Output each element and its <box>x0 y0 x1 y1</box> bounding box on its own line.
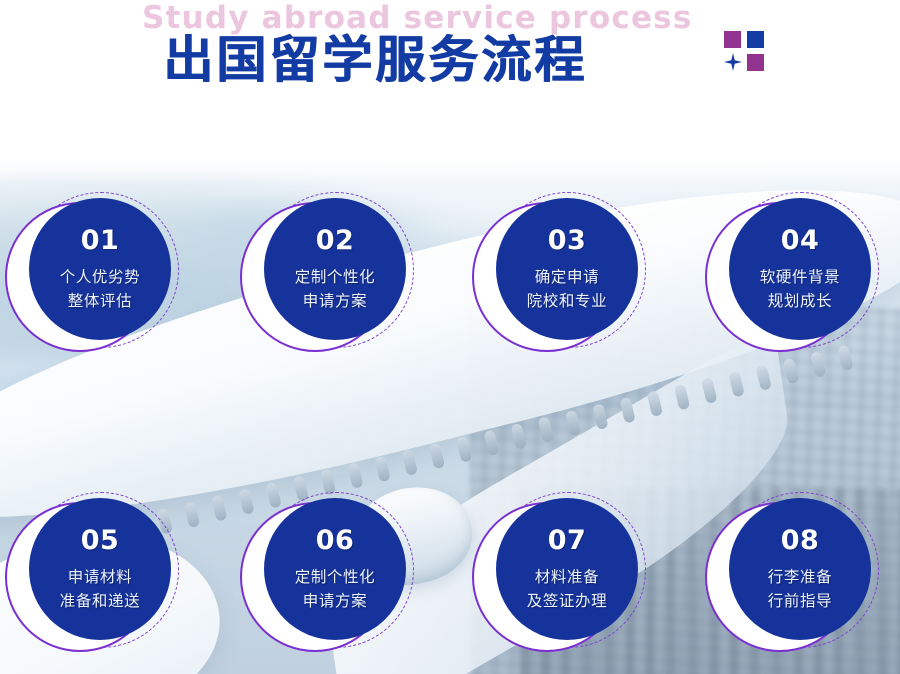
step-node-8[interactable]: 08 行李准备 行前指导 <box>705 490 885 670</box>
blue-square-icon <box>747 31 764 48</box>
study-abroad-process-poster: Study abroad service process 出国留学服务流程 <box>0 0 900 674</box>
page-title: 出国留学服务流程 <box>163 20 587 92</box>
step-number: 06 <box>316 527 355 554</box>
step-text-line2: 及签证办理 <box>527 590 608 614</box>
step-node-5[interactable]: 05 申请材料 准备和递送 <box>5 490 185 670</box>
step-disc: 07 材料准备 及签证办理 <box>496 498 638 640</box>
step-number: 03 <box>548 227 587 254</box>
step-node-2[interactable]: 02 定制个性化 申请方案 <box>240 190 420 370</box>
step-disc: 01 个人优劣势 整体评估 <box>29 198 171 340</box>
step-text-line1: 定制个性化 <box>295 266 376 290</box>
step-number: 04 <box>781 227 820 254</box>
step-text-line1: 定制个性化 <box>295 566 376 590</box>
step-text-line1: 行李准备 <box>768 566 832 590</box>
step-text-line2: 申请方案 <box>303 590 367 614</box>
step-text-line2: 院校和专业 <box>527 290 608 314</box>
poster-header: Study abroad service process 出国留学服务流程 <box>0 0 900 160</box>
step-text-line1: 申请材料 <box>68 566 132 590</box>
step-node-3[interactable]: 03 确定申请 院校和专业 <box>472 190 652 370</box>
step-number: 07 <box>548 527 587 554</box>
four-point-star-icon <box>724 53 742 71</box>
step-text-line1: 软硬件背景 <box>760 266 841 290</box>
step-text-line2: 行前指导 <box>768 590 832 614</box>
step-disc: 03 确定申请 院校和专业 <box>496 198 638 340</box>
step-text-line2: 整体评估 <box>68 290 132 314</box>
step-node-6[interactable]: 06 定制个性化 申请方案 <box>240 490 420 670</box>
step-text-line2: 申请方案 <box>303 290 367 314</box>
step-number: 05 <box>81 527 120 554</box>
step-text-line2: 准备和递送 <box>60 590 141 614</box>
step-disc: 04 软硬件背景 规划成长 <box>729 198 871 340</box>
photo-top-fade <box>0 158 900 182</box>
step-node-1[interactable]: 01 个人优劣势 整体评估 <box>5 190 185 370</box>
step-disc: 08 行李准备 行前指导 <box>729 498 871 640</box>
step-disc: 02 定制个性化 申请方案 <box>264 198 406 340</box>
title-block: Study abroad service process 出国留学服务流程 <box>130 0 790 110</box>
step-text-line1: 材料准备 <box>535 566 599 590</box>
step-disc: 06 定制个性化 申请方案 <box>264 498 406 640</box>
step-number: 02 <box>316 227 355 254</box>
purple-square-icon <box>724 31 741 48</box>
step-node-4[interactable]: 04 软硬件背景 规划成长 <box>705 190 885 370</box>
title-decoration <box>724 31 770 77</box>
step-number: 01 <box>81 227 120 254</box>
step-disc: 05 申请材料 准备和递送 <box>29 498 171 640</box>
step-text-line2: 规划成长 <box>768 290 832 314</box>
step-node-7[interactable]: 07 材料准备 及签证办理 <box>472 490 652 670</box>
step-text-line1: 确定申请 <box>535 266 599 290</box>
purple-square-icon-2 <box>747 54 764 71</box>
step-text-line1: 个人优劣势 <box>60 266 141 290</box>
step-number: 08 <box>781 527 820 554</box>
